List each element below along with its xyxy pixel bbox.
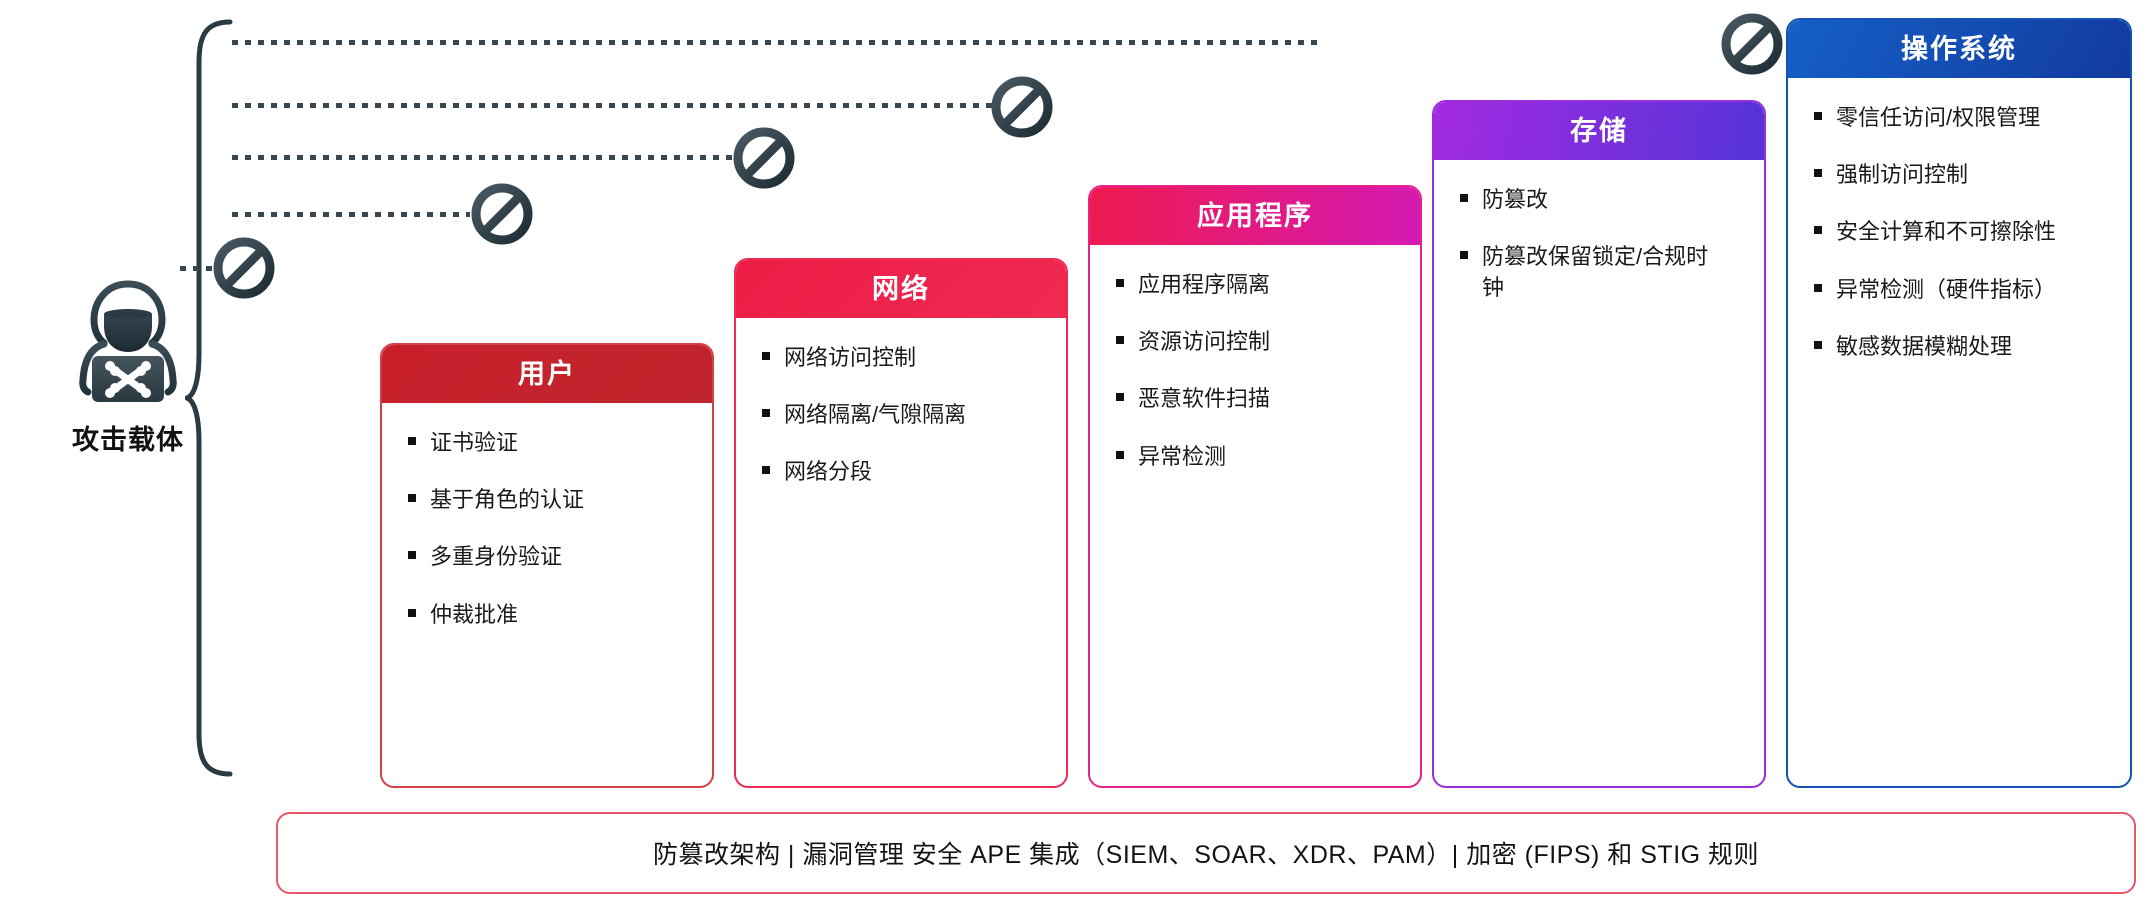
no-entry-icon (471, 183, 533, 245)
layer-card-user-list: 证书验证 基于角色的认证 多重身份验证 仲裁批准 (404, 427, 696, 630)
layer-card-application-title: 应用程序 (1090, 187, 1420, 245)
list-item: 强制访问控制 (1810, 159, 2114, 190)
list-item: 零信任访问/权限管理 (1810, 102, 2114, 133)
list-item: 异常检测（硬件指标） (1810, 274, 2114, 305)
list-item: 证书验证 (404, 427, 696, 458)
list-item: 防篡改 (1456, 184, 1748, 215)
list-item: 仲裁批准 (404, 599, 696, 630)
layer-card-network-title: 网络 (736, 260, 1066, 318)
no-entry-icon (991, 76, 1053, 138)
list-item: 防篡改保留锁定/合规时钟 (1456, 241, 1722, 303)
layer-card-os-body: 零信任访问/权限管理 强制访问控制 安全计算和不可擦除性 异常检测（硬件指标） … (1788, 78, 2130, 398)
layer-card-os-list: 零信任访问/权限管理 强制访问控制 安全计算和不可擦除性 异常检测（硬件指标） … (1810, 102, 2114, 362)
diagram-canvas: 攻击载体 (0, 0, 2146, 916)
list-item: 恶意软件扫描 (1112, 383, 1404, 414)
layer-card-network-list: 网络访问控制 网络隔离/气隙隔离 网络分段 (758, 342, 1050, 488)
no-entry-icon (213, 237, 275, 299)
layer-card-storage-title: 存储 (1434, 102, 1764, 160)
layer-card-storage-list: 防篡改 防篡改保留锁定/合规时钟 (1456, 184, 1748, 304)
list-item: 基于角色的认证 (404, 484, 696, 515)
list-item: 资源访问控制 (1112, 326, 1404, 357)
layer-card-user-title: 用户 (382, 345, 712, 403)
list-item: 异常检测 (1112, 441, 1404, 472)
connector-line-user (180, 266, 212, 271)
layer-card-os[interactable]: 操作系统 零信任访问/权限管理 强制访问控制 安全计算和不可擦除性 异常检测（硬… (1786, 18, 2132, 788)
list-item: 网络分段 (758, 456, 1050, 487)
list-item: 网络访问控制 (758, 342, 1050, 373)
layer-card-storage-body: 防篡改 防篡改保留锁定/合规时钟 (1434, 160, 1764, 340)
no-entry-icon (1721, 13, 1783, 75)
foundation-banner-text: 防篡改架构 | 漏洞管理 安全 APE 集成（SIEM、SOAR、XDR、PAM… (653, 835, 1759, 871)
layer-card-application-body: 应用程序隔离 资源访问控制 恶意软件扫描 异常检测 (1090, 245, 1420, 508)
connector-line-app (232, 155, 732, 160)
layer-card-user[interactable]: 用户 证书验证 基于角色的认证 多重身份验证 仲裁批准 (380, 343, 714, 788)
list-item: 敏感数据模糊处理 (1810, 331, 2114, 362)
connector-line-storage (232, 103, 992, 108)
foundation-banner[interactable]: 防篡改架构 | 漏洞管理 安全 APE 集成（SIEM、SOAR、XDR、PAM… (276, 812, 2136, 894)
layer-card-storage[interactable]: 存储 防篡改 防篡改保留锁定/合规时钟 (1432, 100, 1766, 788)
connector-line-os (232, 40, 1320, 45)
list-item: 应用程序隔离 (1112, 269, 1404, 300)
layer-card-network-body: 网络访问控制 网络隔离/气隙隔离 网络分段 (736, 318, 1066, 524)
grouping-brace (185, 18, 245, 778)
list-item: 多重身份验证 (404, 541, 696, 572)
layer-card-application-list: 应用程序隔离 资源访问控制 恶意软件扫描 异常检测 (1112, 269, 1404, 472)
layer-card-application[interactable]: 应用程序 应用程序隔离 资源访问控制 恶意软件扫描 异常检测 (1088, 185, 1422, 788)
layer-card-user-body: 证书验证 基于角色的认证 多重身份验证 仲裁批准 (382, 403, 712, 666)
list-item: 网络隔离/气隙隔离 (758, 399, 1050, 430)
no-entry-icon (733, 127, 795, 189)
layer-card-os-title: 操作系统 (1788, 20, 2130, 78)
layer-card-network[interactable]: 网络 网络访问控制 网络隔离/气隙隔离 网络分段 (734, 258, 1068, 788)
list-item: 安全计算和不可擦除性 (1810, 216, 2114, 247)
hacker-hoodie-laptop-icon (68, 268, 188, 408)
connector-line-network (232, 212, 470, 217)
